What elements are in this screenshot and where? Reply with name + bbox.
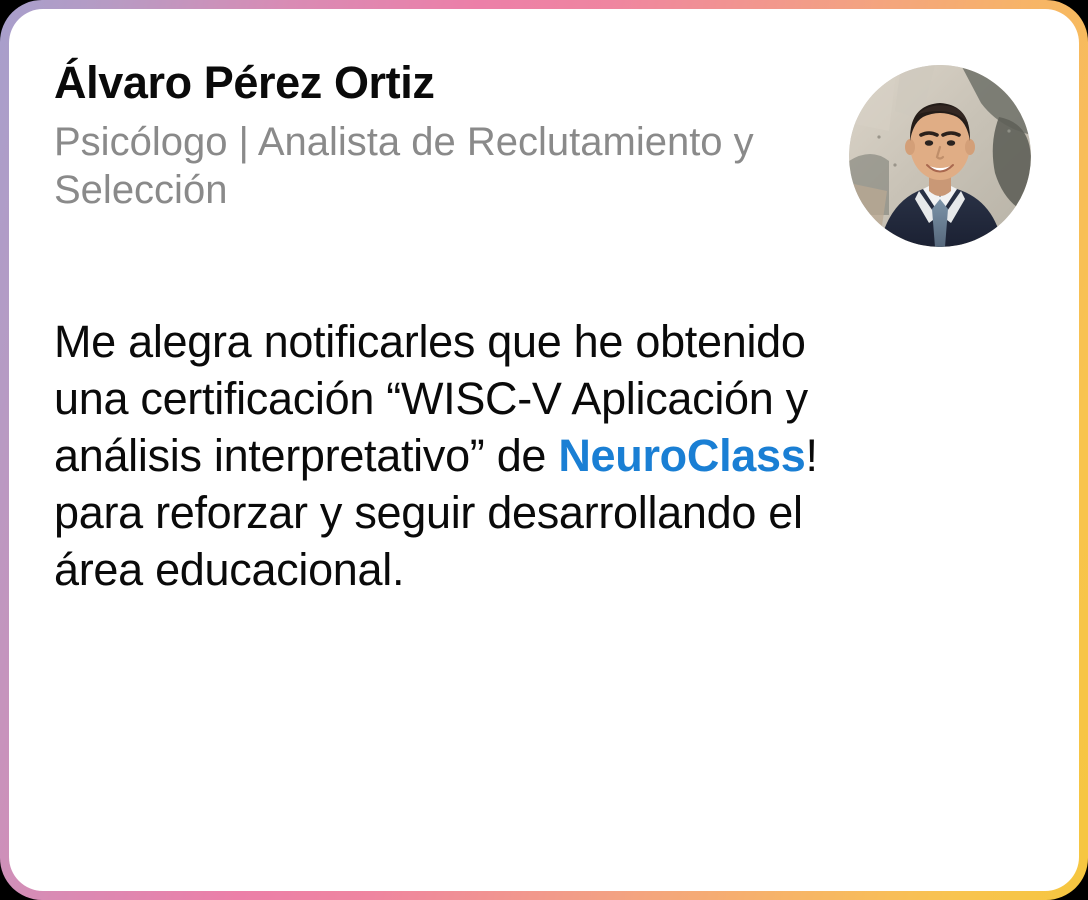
brand-mention-neuroclass[interactable]: NeuroClass xyxy=(558,430,805,481)
post-line: para reforzar y seguir desarrollando el xyxy=(54,485,1039,542)
user-portrait-photo-icon xyxy=(849,65,1031,247)
post-line: análisis interpretativo” de NeuroClass! xyxy=(54,428,1039,485)
card-content-area: Álvaro Pérez Ortiz Psicólogo | Analista … xyxy=(9,9,1079,891)
post-line: área educacional. xyxy=(54,542,1039,599)
page-title: Álvaro Pérez Ortiz xyxy=(54,59,754,108)
post-text: Me alegra notificarles que he obtenido u… xyxy=(54,314,1039,599)
post-line-text: análisis interpretativo” de xyxy=(54,430,558,481)
post-line: una certificación “WISC-V Aplicación y xyxy=(54,371,1039,428)
post-line-text: Me alegra notificarles que he obtenido xyxy=(54,316,806,367)
profile-text-block: Álvaro Pérez Ortiz Psicólogo | Analista … xyxy=(54,51,754,215)
post-line-text-tail: ! xyxy=(805,430,817,481)
post-line-text: una certificación “WISC-V Aplicación y xyxy=(54,373,808,424)
post-line: Me alegra notificarles que he obtenido xyxy=(54,314,1039,371)
profile-header: Álvaro Pérez Ortiz Psicólogo | Analista … xyxy=(54,51,1039,247)
avatar xyxy=(849,65,1031,247)
post-line-text: área educacional. xyxy=(54,544,404,595)
testimonial-card: Álvaro Pérez Ortiz Psicólogo | Analista … xyxy=(0,0,1088,900)
profile-role: Psicólogo | Analista de Reclutamiento y … xyxy=(54,118,754,216)
post-line-text: para reforzar y seguir desarrollando el xyxy=(54,487,803,538)
